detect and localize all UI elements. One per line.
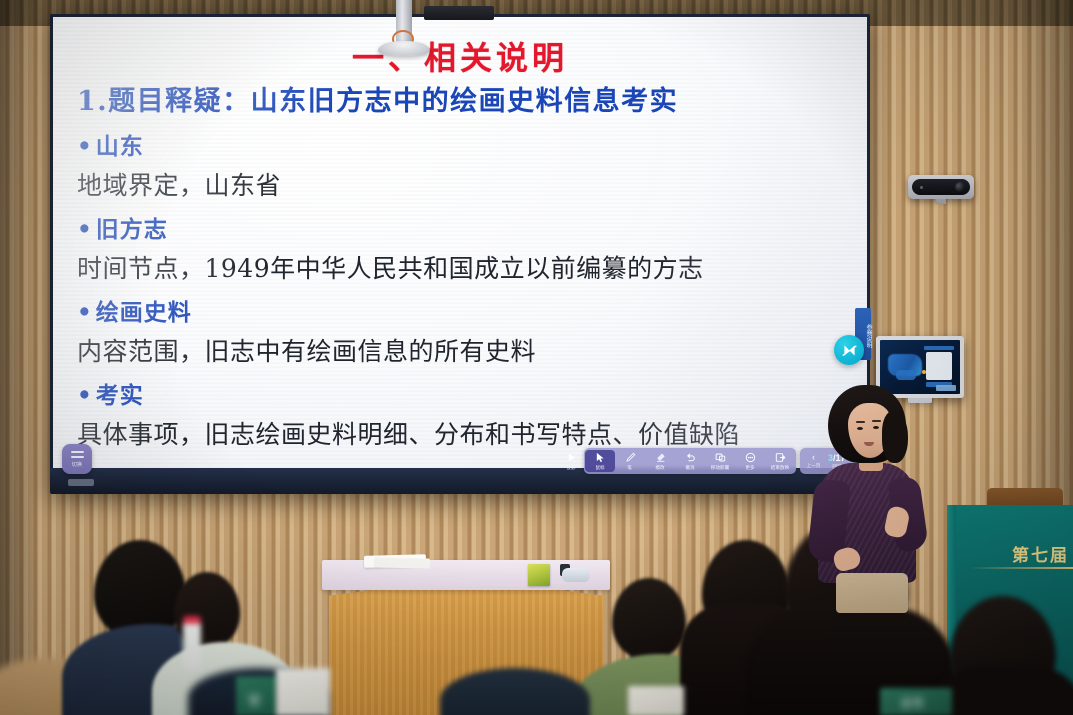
tb-tool-group[interactable]: 鼠标 笔 擦改 撤消 [584, 448, 796, 474]
camera-mount [936, 199, 946, 204]
slide-bullet-jiufangzhi: 旧方志 [77, 210, 857, 244]
tb-pointer-label: 鼠标 [595, 465, 604, 471]
camera-led-icon [920, 186, 923, 189]
media-play-icon [841, 342, 858, 359]
desk-box-label: 管 [248, 690, 262, 710]
cursor-icon [594, 451, 607, 464]
slide-heading: 1.题目释疑：山东旧方志中的绘画史料信息考实 [77, 79, 857, 118]
desk-paper-stack [276, 668, 330, 715]
camera-lens-icon [955, 182, 965, 192]
tb-end-show-label: 结束放映 [771, 465, 789, 471]
tb-undo-button[interactable]: 撤消 [675, 450, 705, 472]
eraser-icon [654, 451, 667, 464]
more-icon [744, 451, 757, 464]
tb-eraser-button[interactable]: 擦改 [645, 450, 675, 472]
audience-member-7 [440, 660, 590, 715]
tb-pen-button[interactable]: 笔 [615, 450, 645, 472]
ppt-switch-label: 切换 [72, 461, 83, 468]
tb-projection-label: 投影 [567, 465, 576, 471]
banner-rule [969, 567, 1073, 569]
screen-brand-logo [68, 479, 94, 486]
monitor-graphic-2 [896, 370, 916, 380]
wall-camera [908, 175, 974, 199]
tb-end-show-button[interactable]: 结束放映 [765, 450, 795, 472]
tb-move-capsule-label: 移动胶囊 [711, 465, 729, 471]
lectern-top-surface [322, 560, 610, 590]
tb-pointer-button[interactable]: 鼠标 [585, 450, 615, 472]
presenter-brow-right [872, 420, 881, 422]
tb-undo-label: 撤消 [685, 465, 694, 471]
slide-detail-jiufangzhi: 时间节点，1949年中华人民共和国成立以前编纂的方志 [77, 249, 857, 285]
lectern-papers-2 [374, 558, 430, 569]
water-bottle [183, 616, 201, 670]
wall-shadow-left [0, 0, 40, 715]
slide-bullet-huihua: 绘画史料 [77, 293, 857, 327]
slide-surface: 一、相关说明 1.题目释疑：山东旧方志中的绘画史料信息考实 山东 地域界定，山东… [53, 17, 867, 468]
ppt-switch-button[interactable]: 切换 [62, 444, 92, 474]
undo-icon [684, 451, 697, 464]
audience-shoulders [440, 668, 590, 715]
presenter-skirt [836, 573, 908, 613]
slide-body: 1.题目释疑：山东旧方志中的绘画史料信息考实 山东 地域界定，山东省 旧方志 时… [77, 79, 857, 459]
slide-detail-shandong: 地域界定，山东省 [77, 166, 857, 202]
ceiling-projector [424, 6, 494, 20]
presenter [806, 385, 936, 610]
tb-more-label: 更多 [745, 465, 754, 471]
media-play-button[interactable] [834, 335, 864, 365]
slide-detail-kaoshi: 具体事项，旧志绘画史料明细、分布和书写特点、价值缺陷 [77, 415, 857, 451]
lectern-book [528, 564, 550, 586]
banner-title: 第七届 [1012, 541, 1069, 566]
play-icon [565, 451, 578, 464]
monitor-card [926, 352, 952, 380]
slide-bullet-shandong: 山东 [77, 127, 857, 161]
desk-paper-right [628, 686, 684, 715]
slide-title: 一、相关说明 [53, 33, 867, 79]
presenter-brow-left [856, 421, 865, 423]
switch-icon [71, 450, 84, 459]
projection-screen: 一、相关说明 1.题目释疑：山东旧方志中的绘画史料信息考实 山东 地域界定，山东… [50, 14, 870, 494]
screenshot-root: 一、相关说明 1.题目释疑：山东旧方志中的绘画史料信息考实 山东 地域界定，山东… [0, 0, 1073, 715]
tb-more-button[interactable]: 更多 [735, 450, 765, 472]
pen-icon [624, 451, 637, 464]
presenter-eye-right [873, 426, 879, 429]
monitor-header-bar [924, 346, 954, 350]
monitor-badge [936, 385, 956, 391]
exit-icon [774, 451, 787, 464]
desk-box-label-right: 金铁 [900, 694, 934, 712]
slide-bullet-kaoshi: 考实 [77, 376, 857, 410]
sprinkler-head [378, 41, 430, 56]
move-window-icon [714, 451, 727, 464]
tb-eraser-label: 擦改 [655, 465, 664, 471]
tb-pen-label: 笔 [628, 465, 633, 471]
presenter-hair-side [882, 411, 908, 463]
tb-projection-button[interactable]: 投影 [563, 448, 580, 474]
presenter-eye-left [857, 427, 863, 430]
slide-detail-huihua: 内容范围，旧志中有绘画信息的所有史料 [77, 332, 857, 368]
tb-move-capsule-button[interactable]: 移动胶囊 [705, 450, 735, 472]
